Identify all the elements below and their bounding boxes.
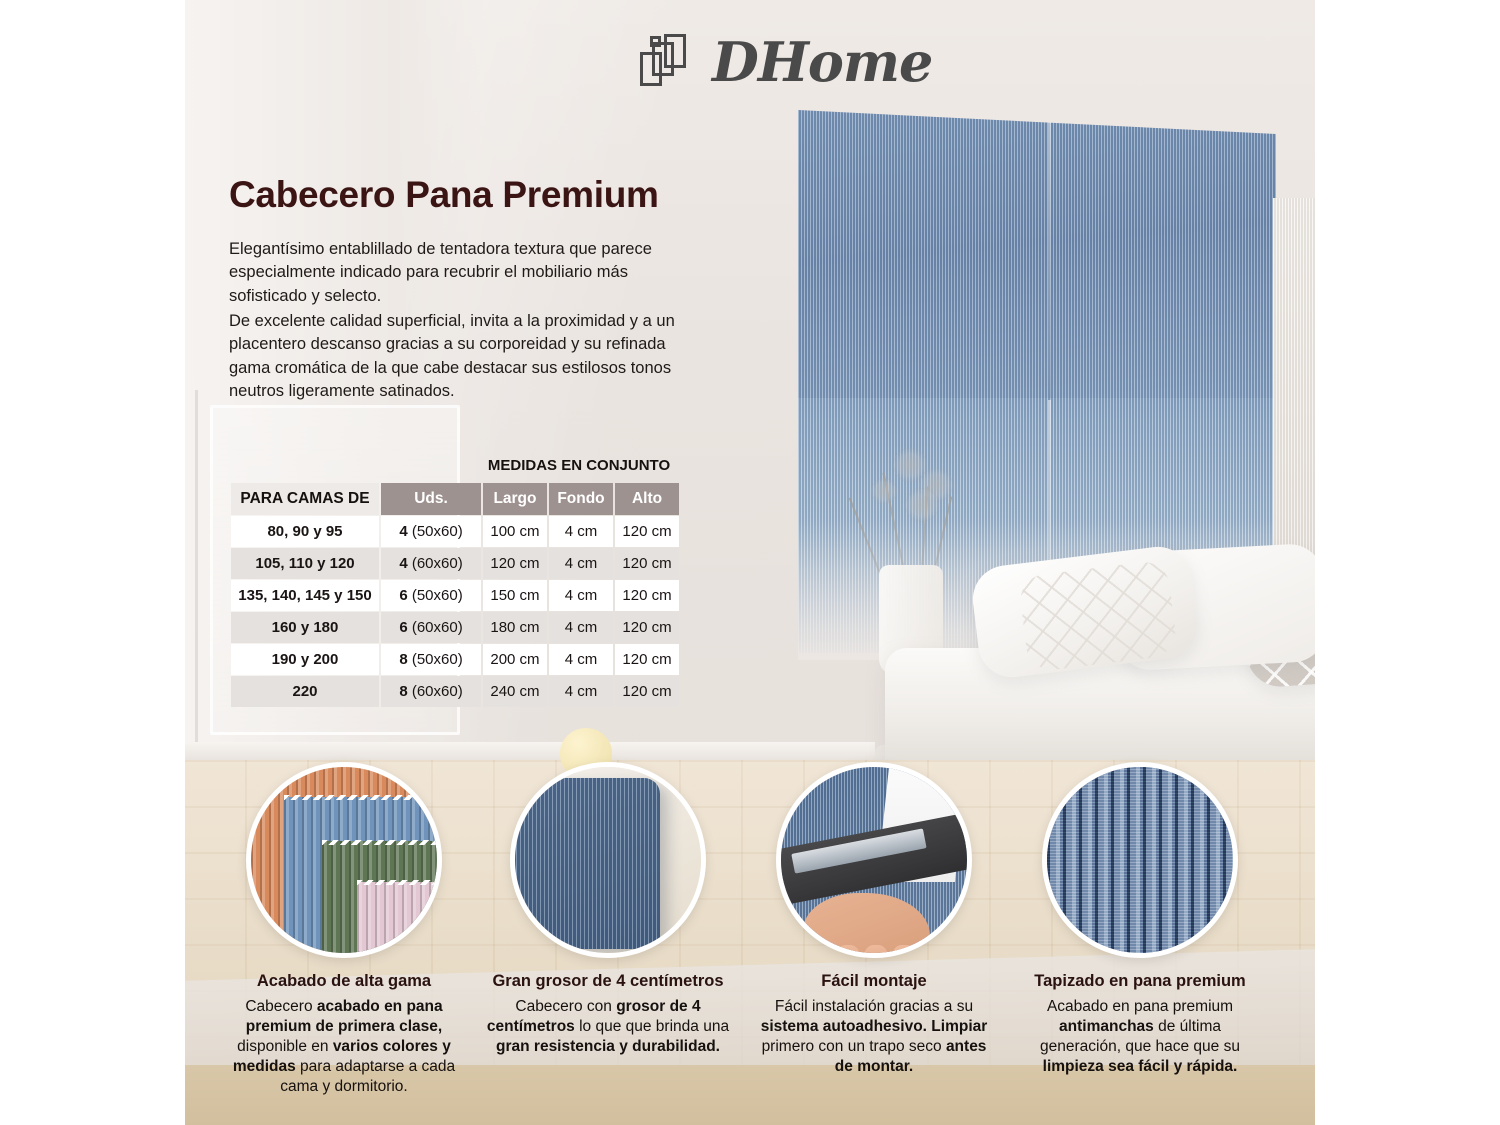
table-row: 80, 90 y 954 (50x60)100 cm4 cm120 cm: [231, 516, 679, 547]
table-header-row: PARA CAMAS DE Uds. Largo Fondo Alto: [231, 483, 679, 515]
col-header-units: Uds.: [381, 483, 481, 515]
brand-name: DHome: [712, 35, 932, 89]
cell-alto: 120 cm: [615, 612, 679, 643]
cell-fondo: 4 cm: [549, 548, 613, 579]
table-row: 135, 140, 145 y 1506 (50x60)150 cm4 cm12…: [231, 580, 679, 611]
feature-title: Fácil montaje: [751, 972, 997, 992]
cell-largo: 120 cm: [483, 548, 547, 579]
col-header-beds: PARA CAMAS DE: [231, 483, 379, 515]
feature-body: Cabecero acabado en pana premium de prim…: [221, 997, 467, 1098]
feature-title: Gran grosor de 4 centímetros: [485, 972, 731, 992]
col-header-alto: Alto: [615, 483, 679, 515]
table-row: 190 y 2008 (50x60)200 cm4 cm120 cm: [231, 644, 679, 675]
description-paragraph-1: Elegantísimo entablillado de tentadora t…: [229, 238, 695, 308]
cell-largo: 240 cm: [483, 676, 547, 707]
cell-units: 8 (50x60): [381, 644, 481, 675]
cell-alto: 120 cm: [615, 580, 679, 611]
cell-bed-sizes: 135, 140, 145 y 150: [231, 580, 379, 611]
pillow-diamond-texture: [1018, 559, 1179, 673]
cell-fondo: 4 cm: [549, 580, 613, 611]
cell-alto: 120 cm: [615, 644, 679, 675]
cell-alto: 120 cm: [615, 676, 679, 707]
page-title: Cabecero Pana Premium: [229, 174, 659, 216]
cell-bed-sizes: 220: [231, 676, 379, 707]
feature-item: Tapizado en pana premium Acabado en pana…: [1017, 762, 1263, 1077]
feature-body: Acabado en pana premium antimanchas de ú…: [1017, 997, 1263, 1078]
cell-largo: 200 cm: [483, 644, 547, 675]
cell-fondo: 4 cm: [549, 644, 613, 675]
cell-largo: 150 cm: [483, 580, 547, 611]
cell-alto: 120 cm: [615, 516, 679, 547]
cell-fondo: 4 cm: [549, 516, 613, 547]
cell-units: 6 (50x60): [381, 580, 481, 611]
corduroy-texture-macro-icon: [1042, 762, 1238, 958]
table-group-header: MEDIDAS EN CONJUNTO: [477, 452, 681, 478]
cell-units: 4 (50x60): [381, 516, 481, 547]
cell-largo: 180 cm: [483, 612, 547, 643]
folded-corduroy-panel-icon: [510, 762, 706, 958]
cell-bed-sizes: 190 y 200: [231, 644, 379, 675]
cell-units: 8 (60x60): [381, 676, 481, 707]
cell-fondo: 4 cm: [549, 612, 613, 643]
feature-title: Tapizado en pana premium: [1017, 972, 1263, 992]
feature-body: Cabecero con grosor de 4 centímetros lo …: [485, 997, 731, 1057]
table-row: 105, 110 y 1204 (60x60)120 cm4 cm120 cm: [231, 548, 679, 579]
cell-bed-sizes: 160 y 180: [231, 612, 379, 643]
feature-item: Acabado de alta gama Cabecero acabado en…: [221, 762, 467, 1098]
sizes-table: PARA CAMAS DE Uds. Largo Fondo Alto 80, …: [229, 482, 681, 708]
headboard-seam: [1048, 122, 1051, 410]
hand-installing-adhesive-panel-icon: [776, 762, 972, 958]
brand-logo[interactable]: DHome: [640, 32, 932, 92]
cell-fondo: 4 cm: [549, 676, 613, 707]
table-row: 160 y 1806 (60x60)180 cm4 cm120 cm: [231, 612, 679, 643]
feature-body: Fácil instalación gracias a su sistema a…: [751, 997, 997, 1078]
cell-bed-sizes: 80, 90 y 95: [231, 516, 379, 547]
table-row: 2208 (60x60)240 cm4 cm120 cm: [231, 676, 679, 707]
feature-title: Acabado de alta gama: [221, 972, 467, 992]
overlapping-squares-logo-icon: [640, 32, 696, 92]
cell-alto: 120 cm: [615, 548, 679, 579]
feature-item: Gran grosor de 4 centímetros Cabecero co…: [485, 762, 731, 1057]
fabric-colour-swatches-icon: [246, 762, 442, 958]
cell-units: 6 (60x60): [381, 612, 481, 643]
cell-bed-sizes: 105, 110 y 120: [231, 548, 379, 579]
feature-item: Fácil montaje Fácil instalación gracias …: [751, 762, 997, 1077]
headboard-upper-panels: [798, 110, 1276, 410]
cell-largo: 100 cm: [483, 516, 547, 547]
description-paragraph-2: De excelente calidad superficial, invita…: [229, 310, 695, 404]
cell-units: 4 (60x60): [381, 548, 481, 579]
infographic-canvas: DHome Cabecero Pana Premium Elegantísimo…: [185, 0, 1315, 1125]
col-header-fondo: Fondo: [549, 483, 613, 515]
col-header-largo: Largo: [483, 483, 547, 515]
